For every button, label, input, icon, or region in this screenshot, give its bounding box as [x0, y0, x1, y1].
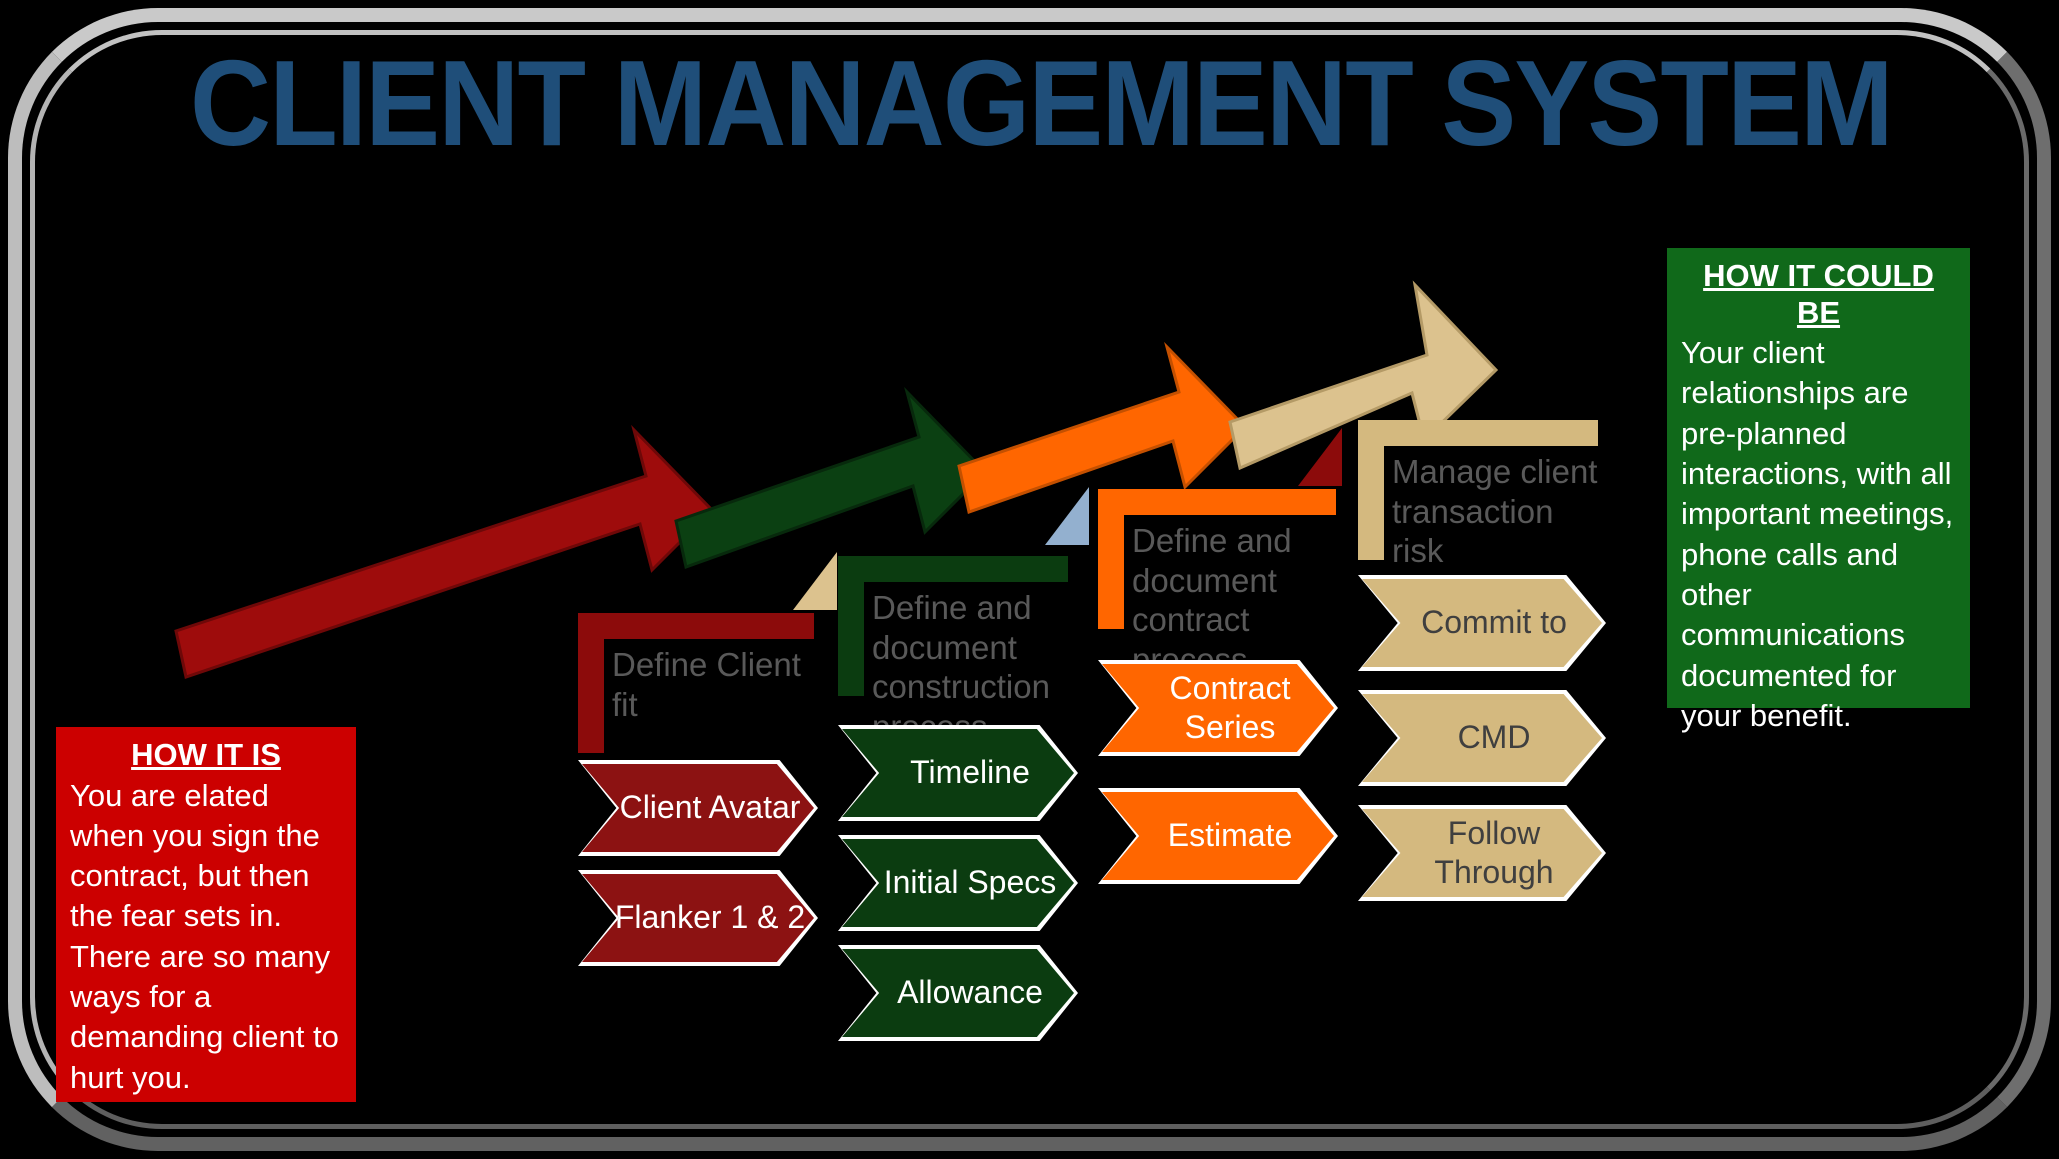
arrow-stage-3-icon [959, 347, 1245, 512]
arrow-stage-2-icon [676, 392, 985, 567]
bracket-left-bar [838, 556, 864, 696]
stage-caption-client-fit: Define Client fit [612, 645, 812, 724]
slide-canvas: CLIENT MANAGEMENT SYSTEM Define Client f… [0, 0, 2059, 1159]
stage-bracket-client-fit: Define Client fit [578, 613, 814, 753]
chevron-follow-through[interactable]: Follow Through [1358, 805, 1606, 901]
chevron-commit-to[interactable]: Commit to [1358, 575, 1606, 671]
stage-bracket-transaction-risk: Manage client transaction risk [1358, 420, 1598, 560]
stage-marker-contract-process [1045, 487, 1089, 545]
chevron-client-avatar[interactable]: Client Avatar [578, 760, 818, 856]
bracket-top-bar [1358, 420, 1598, 446]
bracket-top-bar [1098, 489, 1336, 515]
callout-how-it-is: HOW IT IS You are elated when you sign t… [56, 727, 356, 1102]
bracket-left-bar [1098, 489, 1124, 629]
callout-heading: HOW IT IS [70, 737, 342, 774]
chevron-initial-specs[interactable]: Initial Specs [838, 835, 1078, 931]
bracket-top-bar [838, 556, 1068, 582]
stage-bracket-contract-process: Define and document contract process [1098, 489, 1336, 629]
chevron-cmd[interactable]: CMD [1358, 690, 1606, 786]
callout-how-it-could-be: HOW IT COULD BE Your client relationship… [1667, 248, 1970, 708]
chevron-flanker[interactable]: Flanker 1 & 2 [578, 870, 818, 966]
stage-bracket-construction-process: Define and document construction process [838, 556, 1068, 696]
chevron-allowance[interactable]: Allowance [838, 945, 1078, 1041]
callout-body: Your client relationships are pre-planne… [1681, 333, 1956, 736]
callout-body: You are elated when you sign the contrac… [70, 776, 342, 1098]
stage-caption-contract-process: Define and document contract process [1132, 521, 1320, 679]
stage-marker-construction-process [793, 552, 837, 610]
stage-caption-construction-process: Define and document construction process [872, 588, 1068, 746]
chevron-timeline[interactable]: Timeline [838, 725, 1078, 821]
stage-caption-transaction-risk: Manage client transaction risk [1392, 452, 1602, 571]
callout-heading: HOW IT COULD BE [1681, 258, 1956, 331]
chevron-contract-series[interactable]: Contract Series [1098, 660, 1338, 756]
bracket-top-bar [578, 613, 814, 639]
stage-marker-transaction-risk [1298, 428, 1342, 486]
page-title: CLIENT MANAGEMENT SYSTEM [190, 42, 1892, 164]
bracket-left-bar [578, 613, 604, 753]
bracket-left-bar [1358, 420, 1384, 560]
chevron-estimate[interactable]: Estimate [1098, 788, 1338, 884]
